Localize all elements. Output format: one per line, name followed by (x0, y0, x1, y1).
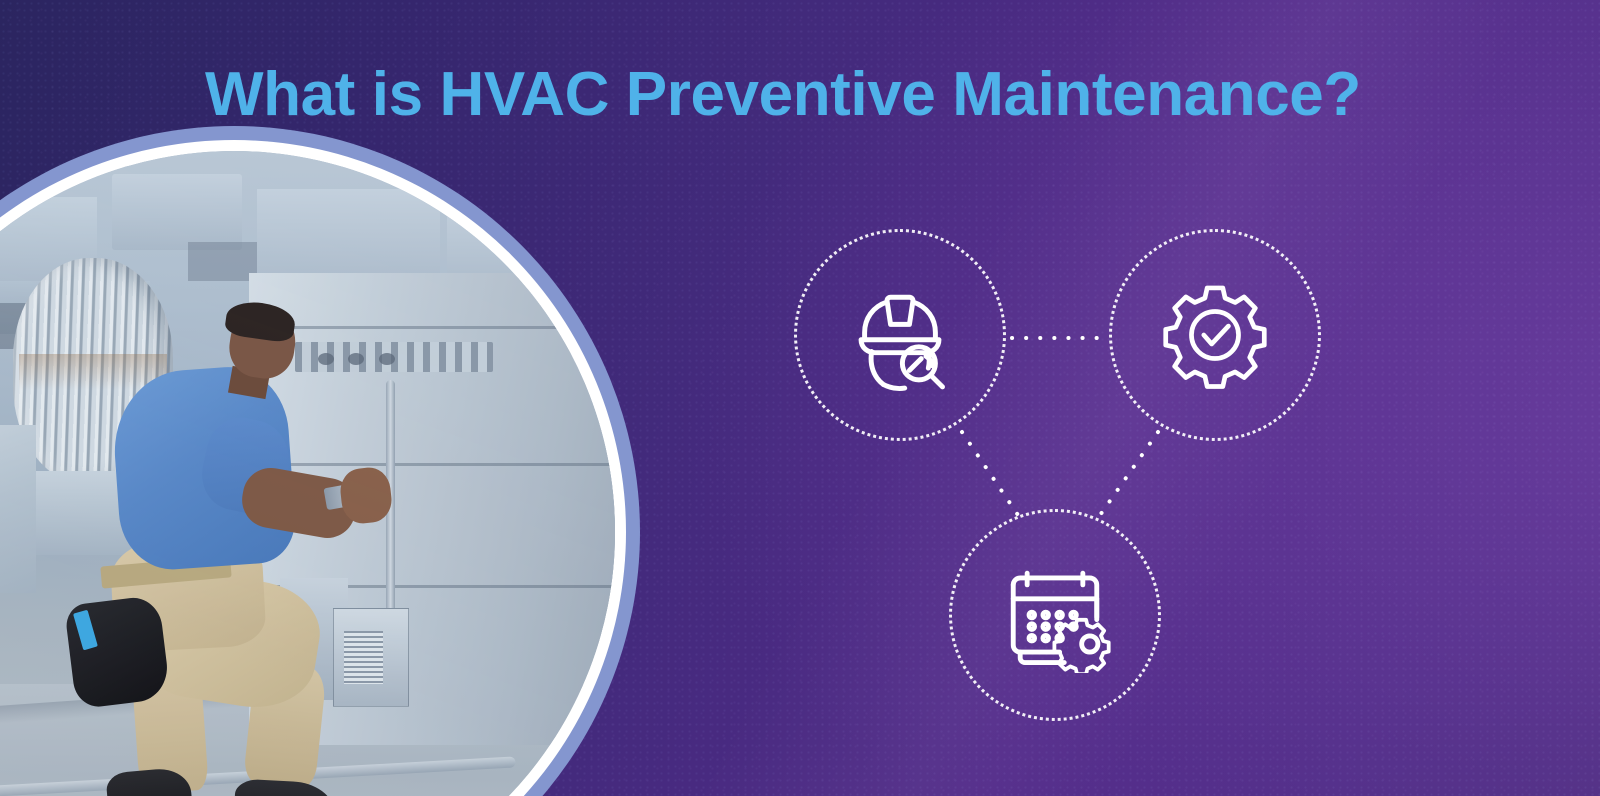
node-inspection[interactable] (794, 229, 1006, 441)
connector-verified-to-scheduling (1098, 432, 1158, 518)
connector-inspection-to-scheduling (962, 432, 1020, 518)
technician-photo (0, 126, 640, 796)
node-scheduling[interactable] (949, 509, 1161, 721)
calendar-gear-icon (997, 557, 1113, 673)
photo-color-tone (0, 151, 615, 796)
photo-clip (0, 151, 615, 796)
photo-scene (0, 151, 615, 796)
hard-hat-magnifier-icon (841, 276, 959, 394)
hvac-banner: What is HVAC Preventive Maintenance? (0, 0, 1600, 796)
page-title: What is HVAC Preventive Maintenance? (205, 62, 1385, 127)
node-verified-service[interactable] (1109, 229, 1321, 441)
gear-check-icon (1159, 279, 1271, 391)
